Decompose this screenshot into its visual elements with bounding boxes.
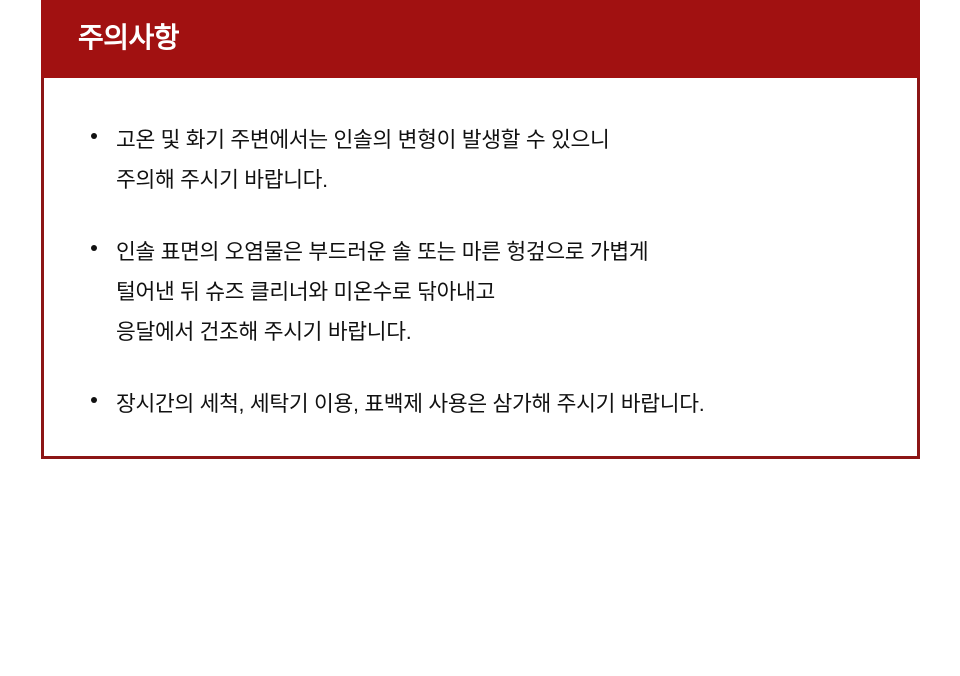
notice-page: 주의사항 고온 및 화기 주변에서는 인솔의 변형이 발생할 수 있으니 주의해…: [0, 0, 960, 676]
bullet-icon: [91, 245, 97, 251]
list-item: 고온 및 화기 주변에서는 인솔의 변형이 발생할 수 있으니 주의해 주시기 …: [88, 120, 899, 200]
notice-header-bar: 주의사항: [41, 0, 920, 78]
notice-text-line: 인솔 표면의 오염물은 부드러운 솔 또는 마른 헝겊으로 가볍게: [116, 232, 899, 272]
bullet-icon: [91, 133, 97, 139]
notice-text-line: 응달에서 건조해 주시기 바랍니다.: [116, 312, 899, 352]
notice-text-line: 장시간의 세척, 세탁기 이용, 표백제 사용은 삼가해 주시기 바랍니다.: [116, 384, 899, 424]
notice-text-line: 털어낸 뒤 슈즈 클리너와 미온수로 닦아내고: [116, 272, 899, 312]
notice-text-line: 주의해 주시기 바랍니다.: [116, 160, 899, 200]
notice-text-line: 고온 및 화기 주변에서는 인솔의 변형이 발생할 수 있으니: [116, 120, 899, 160]
notice-list: 고온 및 화기 주변에서는 인솔의 변형이 발생할 수 있으니 주의해 주시기 …: [88, 120, 899, 424]
list-item: 인솔 표면의 오염물은 부드러운 솔 또는 마른 헝겊으로 가볍게 털어낸 뒤 …: [88, 232, 899, 352]
notice-content-box: 고온 및 화기 주변에서는 인솔의 변형이 발생할 수 있으니 주의해 주시기 …: [41, 78, 920, 459]
page-title: 주의사항: [78, 20, 179, 56]
list-item: 장시간의 세척, 세탁기 이용, 표백제 사용은 삼가해 주시기 바랍니다.: [88, 384, 899, 424]
bullet-icon: [91, 397, 97, 403]
